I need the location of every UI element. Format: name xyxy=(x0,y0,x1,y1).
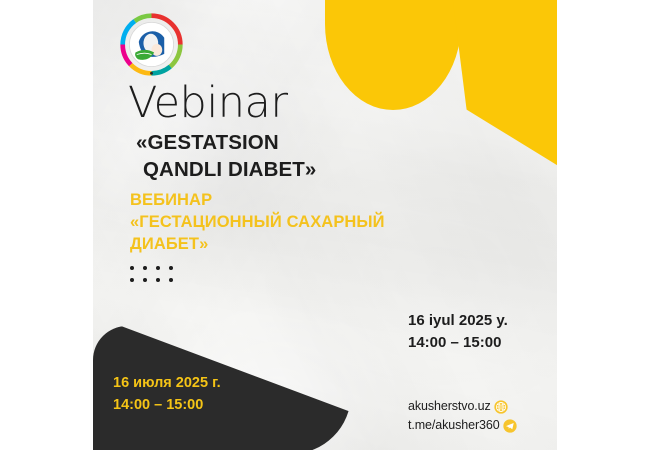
contact-website[interactable]: akusherstvo.uz xyxy=(408,400,517,414)
telegram-label: t.me/akusher360 xyxy=(408,419,500,432)
headline-block: Vebinar «GESTATSION QANDLI DIABET» ВЕБИН… xyxy=(128,82,458,255)
contacts-block: akusherstvo.uz t.me/akus xyxy=(408,400,517,438)
telegram-icon xyxy=(503,419,517,433)
website-label: akusherstvo.uz xyxy=(408,400,491,413)
subtitle-russian-line3: ДИАБЕТ» xyxy=(130,233,458,255)
globe-icon xyxy=(494,400,508,414)
poster-root: Vebinar «GESTATSION QANDLI DIABET» ВЕБИН… xyxy=(0,0,650,450)
subtitle-russian: ВЕБИНАР «ГЕСТАЦИОННЫЙ САХАРНЫЙ ДИАБЕТ» xyxy=(130,189,458,255)
subtitle-uzbek: «GESTATSION QANDLI DIABET» xyxy=(136,130,458,183)
subtitle-uzbek-line1: «GESTATSION xyxy=(136,131,279,154)
time-uzbek: 14:00 – 15:00 xyxy=(408,332,508,354)
subtitle-russian-line1: ВЕБИНАР xyxy=(130,189,458,211)
yellow-shape-wedge xyxy=(445,0,557,170)
organization-logo-icon xyxy=(118,11,185,78)
subtitle-russian-line2: «ГЕСТАЦИОННЫЙ САХАРНЫЙ xyxy=(130,211,458,233)
dot xyxy=(156,278,160,282)
time-russian: 14:00 – 15:00 xyxy=(113,394,221,416)
poster-canvas: Vebinar «GESTATSION QANDLI DIABET» ВЕБИН… xyxy=(93,0,557,450)
webinar-title: Vebinar xyxy=(128,82,458,126)
dot xyxy=(130,266,134,270)
date-uzbek: 16 iyul 2025 y. xyxy=(408,310,508,332)
dot xyxy=(143,266,147,270)
dot xyxy=(143,278,147,282)
dot xyxy=(156,266,160,270)
date-time-uzbek: 16 iyul 2025 y. 14:00 – 15:00 xyxy=(408,310,508,354)
dot xyxy=(169,266,173,270)
date-time-russian: 16 июля 2025 г. 14:00 – 15:00 xyxy=(113,372,221,417)
date-russian: 16 июля 2025 г. xyxy=(113,372,221,394)
contact-telegram[interactable]: t.me/akusher360 xyxy=(408,419,517,433)
dot xyxy=(169,278,173,282)
dot xyxy=(130,278,134,282)
subtitle-uzbek-line2: QANDLI DIABET» xyxy=(136,157,458,184)
decorative-dot-grid xyxy=(130,266,182,290)
